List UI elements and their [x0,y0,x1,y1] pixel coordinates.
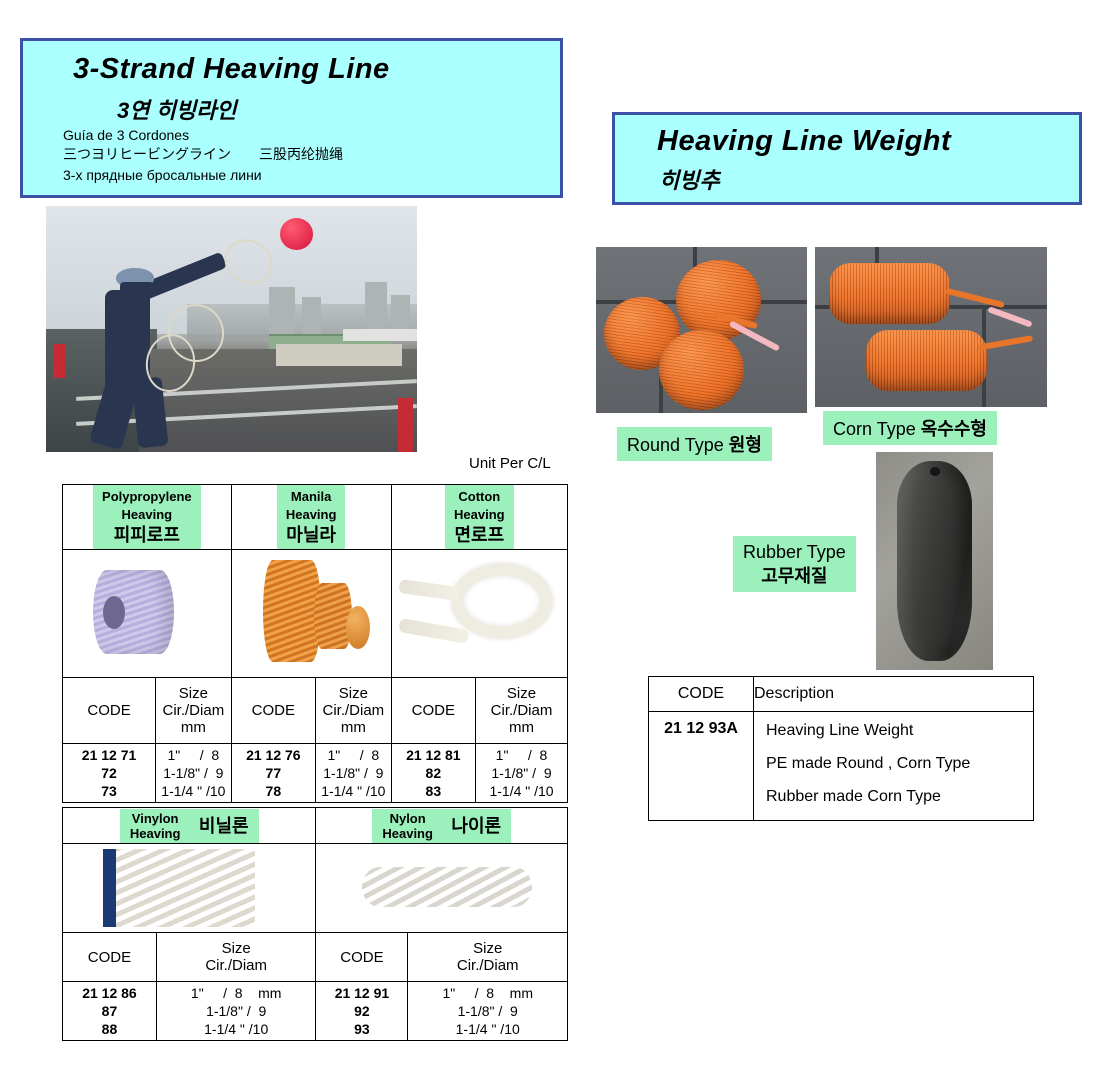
size-values: 1" / 8 mm 1-1/8" / 9 1-1/4 " /10 [156,982,316,1041]
heaving-line-throw-photo [46,206,417,452]
left-title-en: 3-Strand Heaving Line [73,53,390,86]
corn-type-label: Corn Type 옥수수형 [823,411,997,445]
rubber-type-label: Rubber Type 고무재질 [733,536,856,592]
rubber-type-en: Rubber Type [743,542,846,562]
left-subtitle-es: Guía de 3 Cordones [63,126,189,145]
column-header-row: CODE Size Cir./Diam CODE Size Cir./Diam [63,933,568,982]
description-line: Heaving Line Weight [754,714,1033,747]
product-name-ko: 비닐론 [199,815,249,837]
round-type-ko: 원형 [729,435,762,455]
product-name-en: Vinylon Heaving [130,811,181,841]
size-values: 1" / 8 mm 1-1/8" / 9 1-1/4 " /10 [408,982,568,1041]
right-title-ko: 히빙추 [659,163,720,195]
column-header-row: CODE Size Cir./Diam mm CODE Size Cir./Di… [63,678,568,744]
col-size: Size Cir./Diam [408,933,568,982]
code-values: 21 12 91 92 93 [316,982,408,1041]
product-image-row [63,844,568,933]
product-header-row: Polypropylene Heaving 피피로프 Manila Heavin… [63,485,568,550]
rope-products-table-1: Polypropylene Heaving 피피로프 Manila Heavin… [62,484,568,803]
product-header-polypropylene: Polypropylene Heaving 피피로프 [63,485,232,550]
col-description: Description [754,677,1034,712]
product-name-en: Nylon Heaving [382,811,433,841]
product-header-manila: Manila Heaving 마닐라 [231,485,391,550]
product-name-ko: 나이론 [451,815,501,837]
size-values: 1" / 8 1-1/8" / 9 1-1/4 " /10 [476,744,568,803]
product-header-row: Vinylon Heaving 비닐론 Nylon Heaving 나이론 [63,808,568,844]
round-type-weight-photo [596,247,807,413]
size-values: 1" / 8 1-1/8" / 9 1-1/4 " /10 [156,744,232,803]
table-row: 21 12 93A Heaving Line Weight PE made Ro… [649,712,1034,821]
heaving-line-weight-table: CODE Description 21 12 93A Heaving Line … [648,676,1034,821]
code-values: 21 12 71 72 73 [63,744,156,803]
col-code: CODE [391,678,475,744]
left-title-box: 3-Strand Heaving Line 3연 히빙라인 Guía de 3 … [20,38,563,198]
right-title-box: Heaving Line Weight 히빙추 [612,112,1082,205]
product-name-ko: 피피로프 [114,525,180,545]
code-values: 21 12 81 82 83 [391,744,475,803]
left-title-ko: 3연 히빙라인 [117,93,237,125]
product-header-nylon: Nylon Heaving 나이론 [316,808,568,844]
rubber-type-ko: 고무재질 [761,566,827,586]
col-code: CODE [316,933,408,982]
code-value: 21 12 93A [649,712,754,821]
col-size: Size Cir./Diam mm [316,678,392,744]
product-image-polypropylene [63,550,232,678]
product-image-cotton [391,550,567,678]
description-cell: Heaving Line Weight PE made Round , Corn… [754,712,1034,821]
product-header-cotton: Cotton Heaving 면로프 [391,485,567,550]
left-subtitle-jp-cn: 三つヨリヒービングライン 三股丙纶抛绳 [63,145,343,164]
round-type-label: Round Type 원형 [617,427,772,461]
description-line: Rubber made Corn Type [754,780,1033,813]
table-header-row: CODE Description [649,677,1034,712]
corn-type-en: Corn Type [833,419,916,439]
data-row: 21 12 86 87 88 1" / 8 mm 1-1/8" / 9 1-1/… [63,982,568,1041]
col-code: CODE [63,678,156,744]
col-code: CODE [63,933,157,982]
col-code: CODE [649,677,754,712]
col-size: Size Cir./Diam mm [156,678,232,744]
product-image-vinylon [63,844,316,933]
product-name-en: Manila Heaving [286,489,337,522]
product-name-en: Polypropylene Heaving [102,489,192,522]
size-values: 1" / 8 1-1/8" / 9 1-1/4 " /10 [316,744,392,803]
col-code: CODE [231,678,315,744]
product-name-ko: 면로프 [454,525,504,545]
code-values: 21 12 86 87 88 [63,982,157,1041]
round-type-en: Round Type [627,435,724,455]
col-size: Size Cir./Diam [156,933,316,982]
code-values: 21 12 76 77 78 [231,744,315,803]
product-name-ko: 마닐라 [286,525,336,545]
product-image-manila [231,550,391,678]
product-image-nylon [316,844,568,933]
data-row: 21 12 71 72 73 1" / 8 1-1/8" / 9 1-1/4 "… [63,744,568,803]
corn-type-ko: 옥수수형 [921,419,987,439]
product-name-en: Cotton Heaving [454,489,505,522]
product-image-row [63,550,568,678]
unit-per-cl-note: Unit Per C/L [469,455,551,472]
left-subtitle-ru: 3-х прядные бросальные лини [63,166,262,185]
product-header-vinylon: Vinylon Heaving 비닐론 [63,808,316,844]
description-line: PE made Round , Corn Type [754,747,1033,780]
rope-products-table-2: Vinylon Heaving 비닐론 Nylon Heaving 나이론 CO… [62,807,568,1041]
right-title-en: Heaving Line Weight [657,125,951,158]
rubber-type-weight-photo [876,452,993,670]
col-size: Size Cir./Diam mm [476,678,568,744]
corn-type-weight-photo [815,247,1047,407]
